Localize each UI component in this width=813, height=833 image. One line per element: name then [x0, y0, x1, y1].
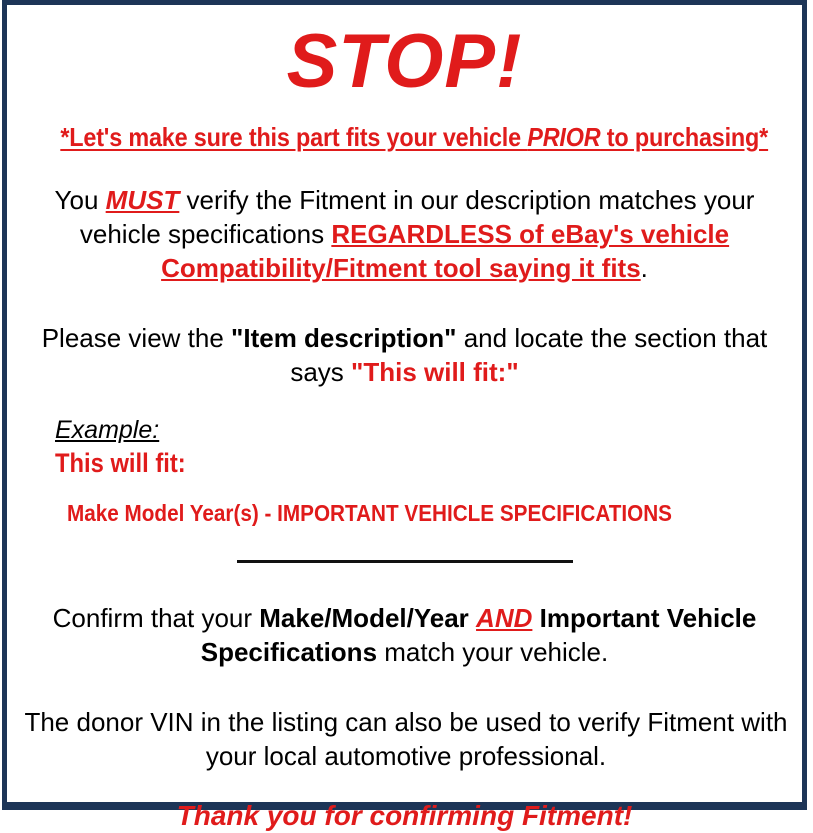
confirm-bold-make-model-year: Make/Model/Year: [259, 603, 469, 633]
confirm-space-1: [469, 603, 476, 633]
tagline: *Let's make sure this part fits your veh…: [21, 105, 788, 153]
tagline-emphasis: PRIOR: [527, 122, 600, 152]
confirm-paragraph: Confirm that your Make/Model/Year AND Im…: [25, 571, 785, 669]
example-fit-header-text: This will fit:: [55, 447, 186, 479]
tagline-before: *Let's make sure this part fits your veh…: [60, 122, 527, 152]
example-spec-line-text: Make Model Year(s) - IMPORTANT VEHICLE S…: [67, 499, 672, 527]
confirm-text-1: Confirm that your: [53, 603, 260, 633]
verify-highlight-must: MUST: [106, 185, 180, 215]
divider-wrap: [21, 527, 788, 571]
stop-heading: STOP!: [21, 5, 788, 105]
confirm-space-2: [532, 603, 539, 633]
view-paragraph: Please view the "Item description" and l…: [24, 285, 786, 389]
vin-paragraph: The donor VIN in the listing can also be…: [21, 669, 791, 773]
view-text-1: Please view the: [42, 323, 231, 353]
view-quote-item-description: "Item description": [231, 323, 456, 353]
tagline-wrap: *Let's make sure this part fits your veh…: [60, 121, 768, 153]
example-label: Example:: [55, 415, 159, 445]
confirm-text-3: match your vehicle.: [377, 637, 608, 667]
section-divider: [237, 560, 573, 563]
thanks-message: Thank you for confirming Fitment!: [21, 773, 788, 833]
verify-text-3: .: [641, 253, 648, 283]
verify-paragraph: You MUST verify the Fitment in our descr…: [25, 153, 785, 285]
verify-text-1: You: [55, 185, 106, 215]
fitment-notice-card: STOP! *Let's make sure this part fits yo…: [2, 0, 807, 810]
view-quote-this-will-fit: "This will fit:": [351, 357, 519, 387]
example-fit-header: This will fit:: [55, 445, 788, 479]
confirm-highlight-and: AND: [476, 603, 532, 633]
example-block: Example: This will fit: Make Model Year(…: [21, 389, 788, 527]
example-spec-line: Make Model Year(s) - IMPORTANT VEHICLE S…: [55, 479, 788, 527]
notice-body: STOP! *Let's make sure this part fits yo…: [7, 5, 802, 802]
tagline-after: to purchasing*: [600, 122, 768, 152]
